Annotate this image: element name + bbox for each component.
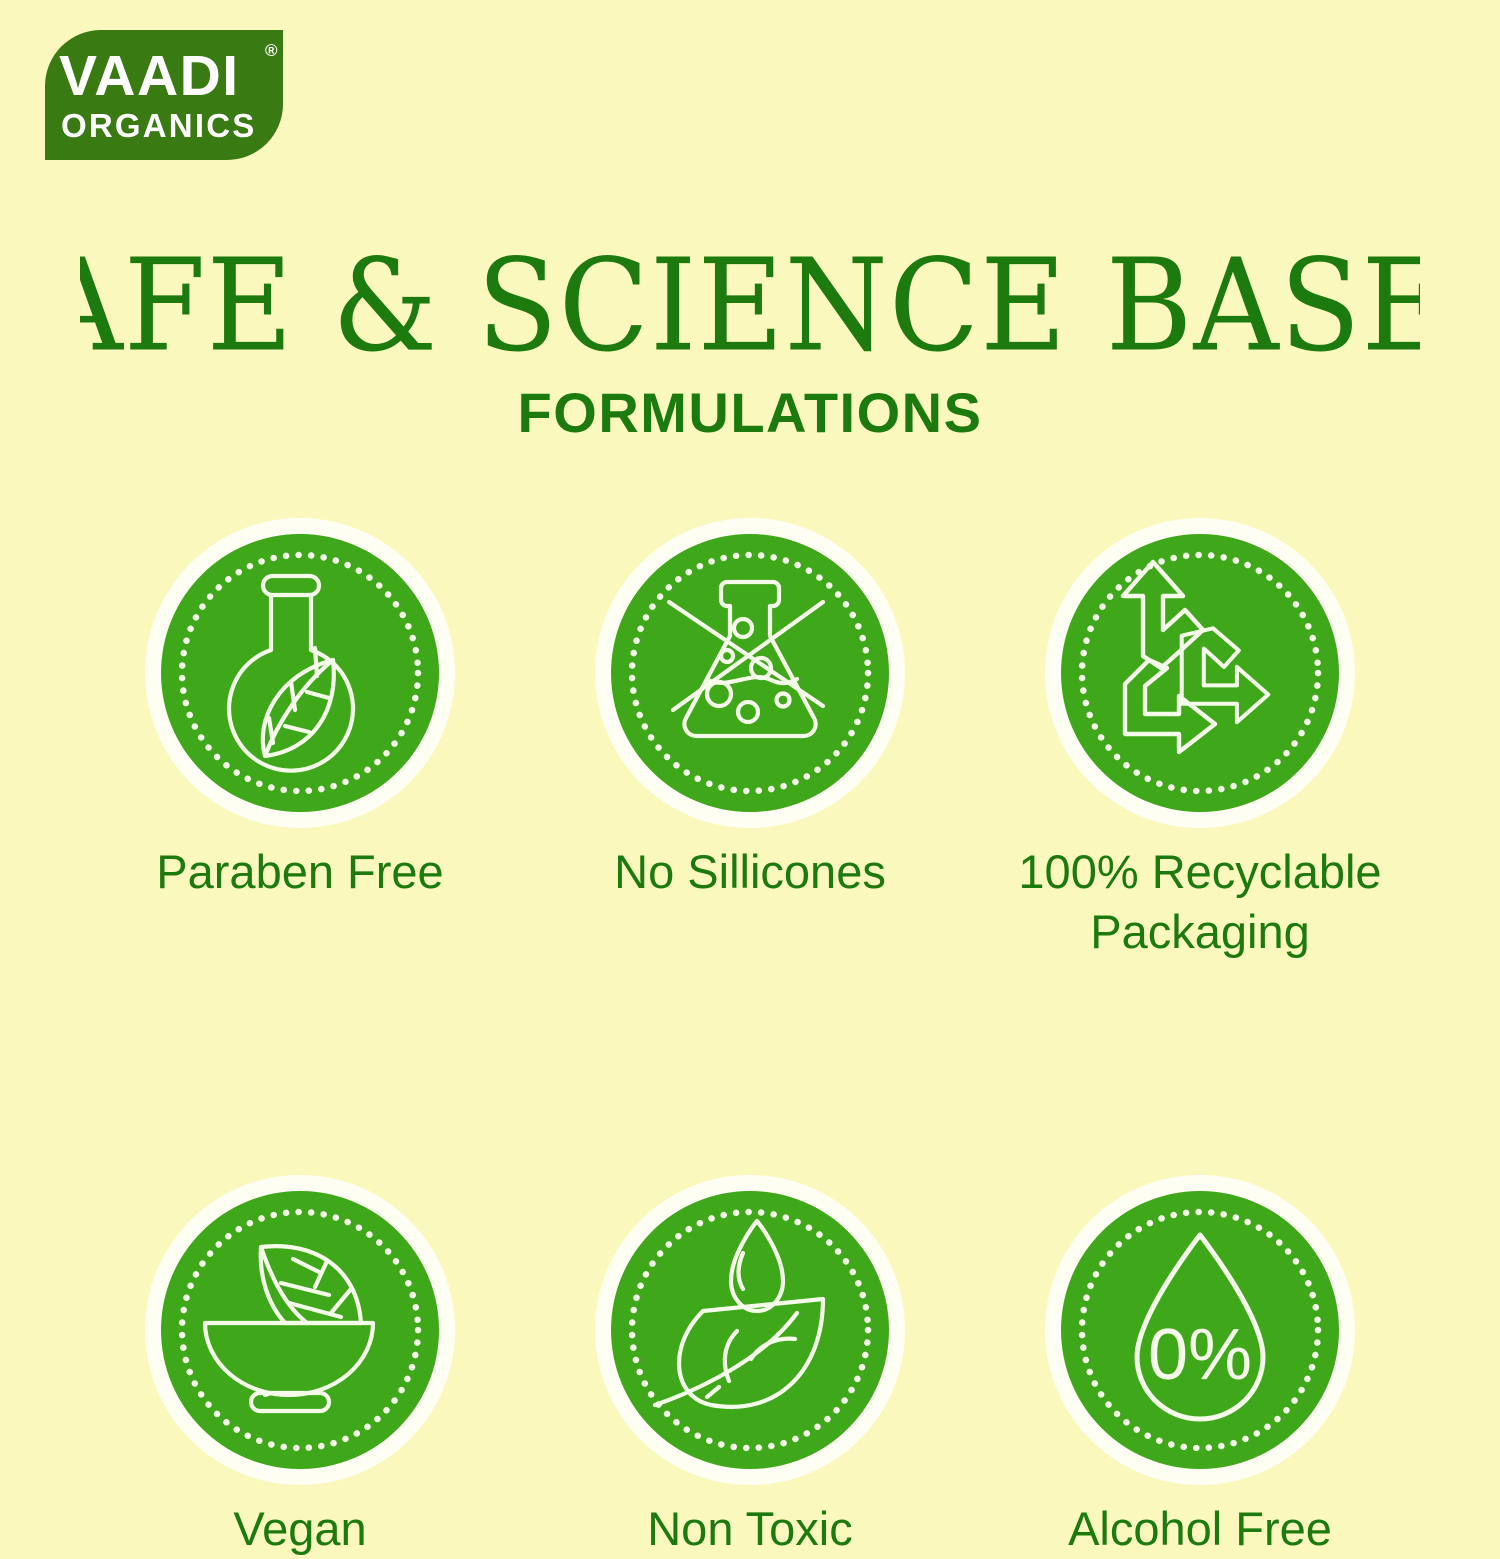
title-text: SAFE & SCIENCE BASED bbox=[80, 237, 1420, 375]
brand-name-secondary: ORGANICS bbox=[59, 106, 283, 146]
badge-no-sillicones[interactable]: No Sillicones bbox=[525, 518, 975, 902]
badge-label: Paraben Free bbox=[156, 845, 443, 898]
badge-recyclable-packaging[interactable]: 100% Recyclable Packaging bbox=[975, 518, 1425, 962]
badge-ring bbox=[595, 518, 905, 828]
registered-trademark-icon: ® bbox=[265, 42, 279, 59]
badge-caption: Paraben Free bbox=[156, 842, 443, 902]
badge-ring bbox=[145, 518, 455, 828]
badge-ring: 0% bbox=[1045, 1175, 1355, 1485]
badge-disc: 0% bbox=[1061, 1191, 1339, 1469]
badge-row-top: Paraben Free bbox=[0, 518, 1500, 962]
badge-label: No Sillicones bbox=[614, 845, 886, 898]
erlenmeyer-flask-crossed-out-icon bbox=[611, 534, 889, 812]
badge-row-bottom: Vegan bbox=[0, 1175, 1500, 1559]
droplet-value-text: 0% bbox=[1148, 1315, 1252, 1395]
badge-caption: 100% Recyclable Packaging bbox=[1018, 842, 1381, 962]
droplet-on-leaf-icon bbox=[611, 1191, 889, 1469]
badge-label: 100% Recyclable bbox=[1018, 845, 1381, 898]
badge-disc bbox=[161, 1191, 439, 1469]
badge-label-line-2: Packaging bbox=[1090, 905, 1310, 958]
badge-ring bbox=[1045, 518, 1355, 828]
badge-disc bbox=[611, 534, 889, 812]
page-title: SAFE & SCIENCE BASED bbox=[0, 237, 1500, 401]
badge-caption: Alcohol Free bbox=[1068, 1499, 1332, 1559]
brand-logo: VAADI® ORGANICS bbox=[45, 30, 283, 160]
badge-paraben-free[interactable]: Paraben Free bbox=[75, 518, 525, 902]
droplet-zero-percent-icon: 0% bbox=[1061, 1191, 1339, 1469]
badge-alcohol-free[interactable]: 0% Alcohol Free bbox=[975, 1175, 1425, 1559]
brand-name-text: VAADI bbox=[59, 44, 240, 108]
badge-label: Non Toxic bbox=[647, 1502, 853, 1555]
badge-caption: No Sillicones bbox=[614, 842, 886, 902]
badge-caption: Vegan bbox=[233, 1499, 366, 1559]
badge-label: Alcohol Free bbox=[1068, 1502, 1332, 1555]
badge-caption: Non Toxic bbox=[647, 1499, 853, 1559]
badge-disc bbox=[1061, 534, 1339, 812]
badge-non-toxic[interactable]: Non Toxic bbox=[525, 1175, 975, 1559]
recycle-icon bbox=[1061, 534, 1339, 812]
badge-ring bbox=[595, 1175, 905, 1485]
badge-vegan[interactable]: Vegan bbox=[75, 1175, 525, 1559]
badge-disc bbox=[611, 1191, 889, 1469]
badge-label: Vegan bbox=[233, 1502, 366, 1555]
title-artwork: SAFE & SCIENCE BASED bbox=[80, 237, 1420, 375]
badge-ring bbox=[145, 1175, 455, 1485]
brand-name-primary: VAADI® bbox=[59, 46, 283, 106]
feature-badge-grid: Paraben Free bbox=[0, 500, 1500, 1559]
page-subtitle: FORMULATIONS bbox=[0, 382, 1500, 444]
badge-disc bbox=[161, 534, 439, 812]
bowl-leaf-icon bbox=[161, 1191, 439, 1469]
flask-leaf-icon bbox=[161, 534, 439, 812]
